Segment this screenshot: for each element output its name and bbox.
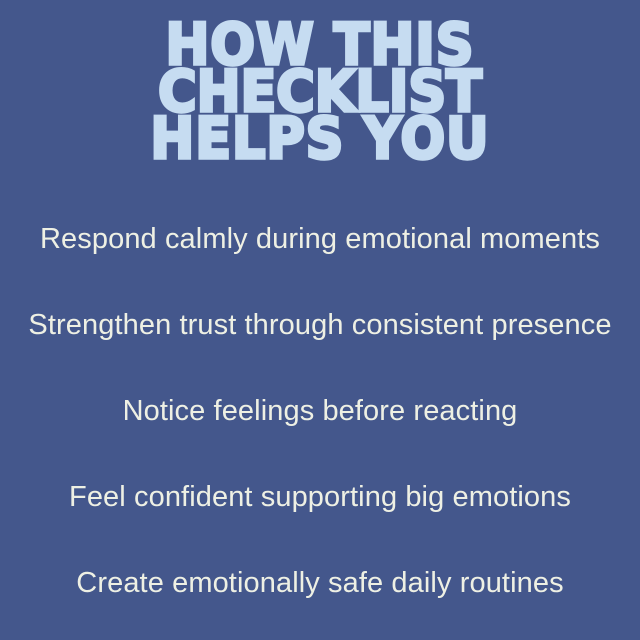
benefit-text-2: Strengthen trust through consistent pres… xyxy=(28,308,611,342)
page-title: HOW THIS CHECKLIST HELPS YOU xyxy=(0,22,640,163)
list-item: Create emotionally safe daily routines xyxy=(0,540,640,626)
list-item: Strengthen trust through consistent pres… xyxy=(0,282,640,368)
benefit-text-5: Create emotionally safe daily routines xyxy=(76,566,563,600)
list-item: Feel confident supporting big emotions xyxy=(0,454,640,540)
headline-line-3: HELPS YOU xyxy=(26,116,615,163)
benefit-text-1: Respond calmly during emotional moments xyxy=(40,222,600,256)
benefit-text-3: Notice feelings before reacting xyxy=(123,394,518,428)
benefit-text-4: Feel confident supporting big emotions xyxy=(69,480,571,514)
poster-canvas: HOW THIS CHECKLIST HELPS YOU Respond cal… xyxy=(0,0,640,640)
benefit-list: Respond calmly during emotional moments … xyxy=(0,196,640,626)
list-item: Respond calmly during emotional moments xyxy=(0,196,640,282)
list-item: Notice feelings before reacting xyxy=(0,368,640,454)
